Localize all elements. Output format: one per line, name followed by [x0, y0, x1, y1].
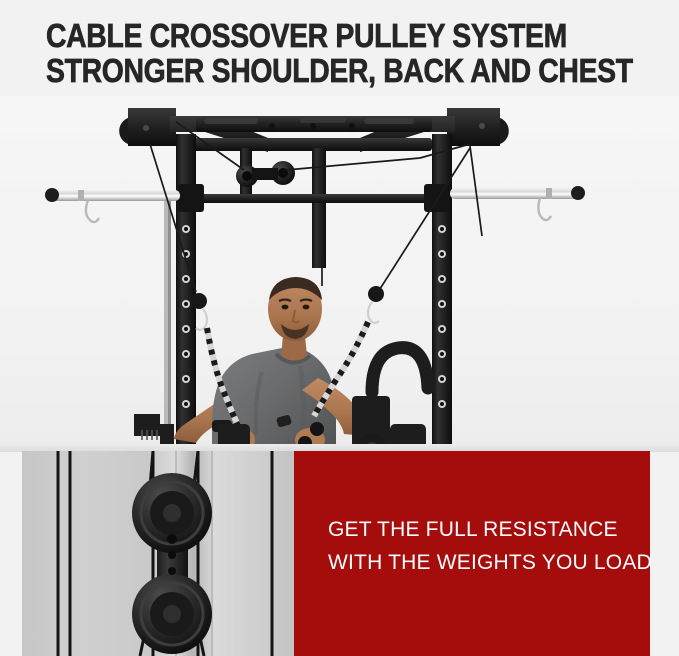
red-callout-text: GET THE FULL RESISTANCE WITH THE WEIGHTS… — [328, 513, 638, 579]
pulley-closeup-illustration — [22, 451, 297, 656]
page-title: CABLE CROSSOVER PULLEY SYSTEM STRONGER S… — [46, 18, 646, 88]
pulley-closeup-panel — [22, 451, 297, 656]
red-callout-panel: GET THE FULL RESISTANCE WITH THE WEIGHTS… — [294, 451, 650, 656]
left-cable-stop — [191, 293, 207, 309]
right-cable-stop — [368, 286, 384, 302]
red-callout-line-2: WITH THE WEIGHTS YOU LOAD — [328, 546, 638, 579]
product-photo — [0, 96, 679, 452]
headline-line-1: CABLE CROSSOVER PULLEY SYSTEM — [46, 18, 562, 53]
marketing-banner: CABLE CROSSOVER PULLEY SYSTEM STRONGER S… — [0, 0, 679, 656]
headline-line-2: STRONGER SHOULDER, BACK AND CHEST — [46, 53, 562, 88]
red-callout-line-1: GET THE FULL RESISTANCE — [328, 513, 638, 546]
product-photo-illustration — [0, 96, 679, 452]
